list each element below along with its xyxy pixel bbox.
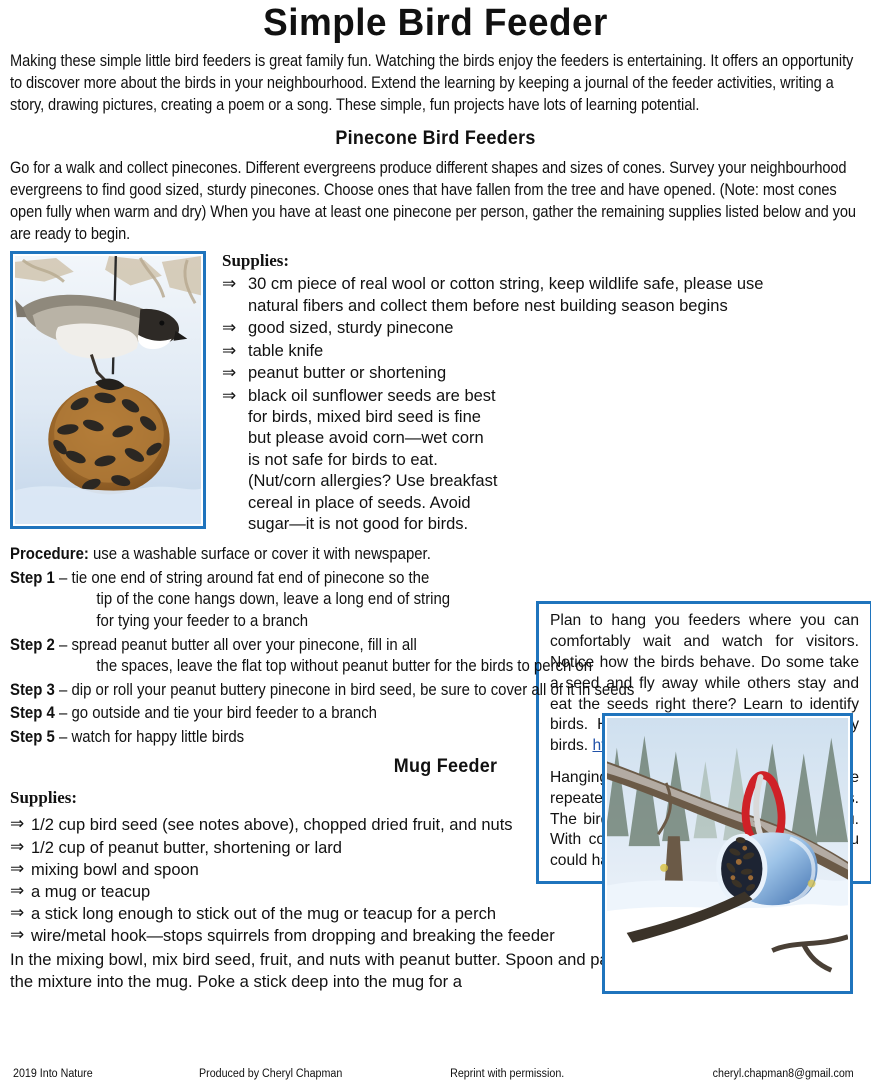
- list-item-text: peanut butter or shortening: [248, 364, 446, 382]
- step-line: Step 3 – dip or roll your peanut buttery…: [10, 679, 860, 701]
- step-label: Step 2: [10, 635, 55, 654]
- page-title: Simple Bird Feeder: [23, 4, 848, 44]
- list-item-text: table knife: [248, 342, 323, 360]
- double-arrow-icon: ⇒: [222, 340, 236, 362]
- step-text: dip or roll your peanut buttery pinecone…: [71, 680, 634, 699]
- document-page: Simple Bird Feeder Making these simple l…: [0, 4, 871, 1086]
- pinecone-supplies-column: Supplies: ⇒ 30 cm piece of real wool or …: [222, 251, 861, 535]
- footer-produced-by: Produced by Cheryl Chapman: [199, 1068, 450, 1080]
- list-item: ⇒ black oil sunflower seeds are best for…: [222, 386, 861, 536]
- step-dash: –: [55, 727, 72, 746]
- pinecone-intro-paragraph: Go for a walk and collect pinecones. Dif…: [10, 157, 861, 245]
- list-item-text: 1/2 cup of peanut butter, shortening or …: [31, 839, 342, 857]
- mug-section-heading: Mug Feeder: [45, 755, 846, 778]
- list-item: ⇒ a stick long enough to stick out of th…: [10, 903, 630, 925]
- footer-email: cheryl.chapman8@gmail.com: [678, 1068, 854, 1080]
- list-item: ⇒ 30 cm piece of real wool or cotton str…: [222, 274, 861, 317]
- list-item-continuation: natural fibers and collect them before n…: [248, 296, 861, 317]
- pinecone-section-heading: Pinecone Bird Feeders: [44, 127, 827, 150]
- list-item: ⇒ wire/metal hook—stops squirrels from d…: [10, 925, 630, 947]
- pinecone-feeder-photo: [15, 256, 201, 524]
- step-text: go outside and tie your bird feeder to a…: [71, 703, 377, 722]
- double-arrow-icon: ⇒: [222, 317, 236, 339]
- mug-instructions-paragraph: In the mixing bowl, mix bird seed, fruit…: [10, 949, 630, 993]
- list-item-text: 1/2 cup bird seed (see notes above), cho…: [31, 816, 513, 834]
- list-item-text: mixing bowl and spoon: [31, 861, 199, 879]
- double-arrow-icon: ⇒: [10, 902, 24, 925]
- step-dash: –: [55, 703, 72, 722]
- double-arrow-icon: ⇒: [10, 880, 24, 903]
- step-line: Step 1 – tie one end of string around fa…: [10, 567, 860, 632]
- step-label: Step 4: [10, 703, 55, 722]
- step-label: Step 1: [10, 568, 55, 587]
- page-footer: 2019 Into Nature Produced by Cheryl Chap…: [0, 1068, 867, 1080]
- list-item-text: a stick long enough to stick out of the …: [31, 905, 496, 923]
- mug-supplies-label: Supplies:: [10, 788, 630, 808]
- list-item-text: 30 cm piece of real wool or cotton strin…: [248, 275, 763, 293]
- list-item-text: wire/metal hook—stops squirrels from dro…: [31, 927, 555, 945]
- pinecone-supplies-list: ⇒ 30 cm piece of real wool or cotton str…: [222, 274, 861, 535]
- procedure-line: Procedure: use a washable surface or cov…: [10, 543, 860, 565]
- double-arrow-icon: ⇒: [10, 836, 24, 859]
- list-item-text: a mug or teacup: [31, 883, 150, 901]
- step-dash: –: [55, 680, 72, 699]
- list-item: ⇒ peanut butter or shortening: [222, 363, 861, 384]
- list-item: ⇒ 1/2 cup of peanut butter, shortening o…: [10, 837, 630, 859]
- step-continuation: for tying your feeder to a branch: [10, 610, 860, 632]
- double-arrow-icon: ⇒: [222, 362, 236, 384]
- procedure-text: use a washable surface or cover it with …: [89, 544, 431, 563]
- pinecone-supplies-region: Supplies: ⇒ 30 cm piece of real wool or …: [10, 251, 861, 539]
- step-line: Step 2 – spread peanut butter all over y…: [10, 634, 860, 677]
- step-label: Step 5: [10, 727, 55, 746]
- double-arrow-icon: ⇒: [10, 813, 24, 836]
- step-text: spread peanut butter all over your pinec…: [71, 635, 416, 654]
- list-item-text: good sized, sturdy pinecone: [248, 319, 453, 337]
- list-item: ⇒ 1/2 cup bird seed (see notes above), c…: [10, 814, 630, 836]
- footer-reprint-notice: Reprint with permission.: [450, 1068, 678, 1080]
- mug-supplies-column: Supplies: ⇒ 1/2 cup bird seed (see notes…: [10, 788, 630, 993]
- list-item: ⇒ a mug or teacup: [10, 881, 630, 903]
- list-item-text: black oil sunflower seeds are best: [248, 387, 496, 405]
- procedure-label: Procedure:: [10, 544, 89, 563]
- step-label: Step 3: [10, 680, 55, 699]
- double-arrow-icon: ⇒: [10, 858, 24, 881]
- step-dash: –: [55, 568, 72, 587]
- pinecone-supplies-label: Supplies:: [222, 251, 861, 271]
- intro-paragraph: Making these simple little bird feeders …: [10, 50, 861, 116]
- list-item: ⇒ good sized, sturdy pinecone: [222, 318, 861, 339]
- list-item-continuation: for birds, mixed bird seed is fine but p…: [248, 407, 861, 536]
- list-item: ⇒ mixing bowl and spoon: [10, 859, 630, 881]
- step-text: watch for happy little birds: [71, 727, 244, 746]
- step-continuation: the spaces, leave the flat top without p…: [10, 655, 860, 677]
- mug-feeder-section: Mug Feeder Supplies: ⇒ 1/2 cup bird seed…: [10, 755, 861, 993]
- double-arrow-icon: ⇒: [222, 273, 236, 295]
- pinecone-feeder-photo-frame: [10, 251, 206, 529]
- step-dash: –: [55, 635, 72, 654]
- mug-supplies-list: ⇒ 1/2 cup bird seed (see notes above), c…: [10, 814, 630, 947]
- footer-year-org: 2019 Into Nature: [13, 1068, 199, 1080]
- step-text: tie one end of string around fat end of …: [71, 568, 429, 587]
- list-item: ⇒ table knife: [222, 341, 861, 362]
- step-continuation: tip of the cone hangs down, leave a long…: [10, 588, 860, 610]
- double-arrow-icon: ⇒: [222, 385, 236, 407]
- double-arrow-icon: ⇒: [10, 924, 24, 947]
